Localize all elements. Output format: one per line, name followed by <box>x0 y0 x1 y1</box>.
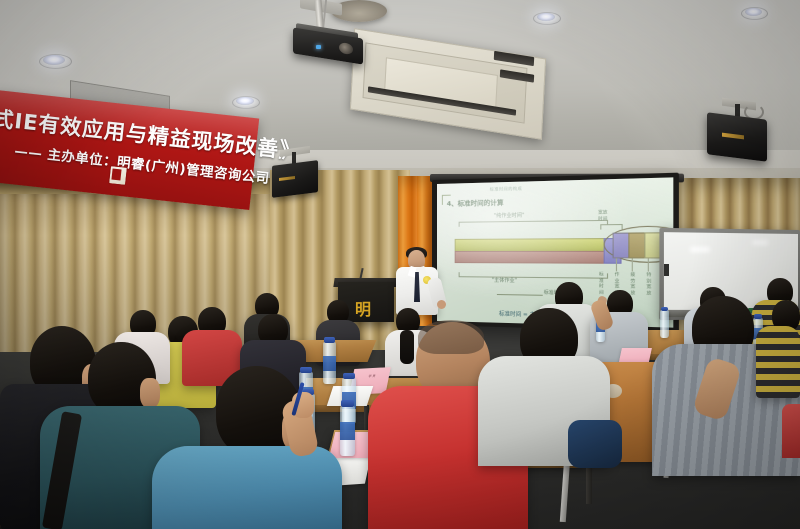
water-bottle[interactable] <box>660 310 669 338</box>
slide-header-text: 标准时间的构成 <box>490 186 522 193</box>
bottle-label <box>323 356 336 371</box>
slide-brace-allowance <box>600 224 622 230</box>
bottle-cap <box>300 367 312 373</box>
slide-brace-bottom <box>459 272 608 279</box>
downlight-icon-2 <box>236 97 254 105</box>
name-card-text: 学 员 <box>360 374 385 378</box>
slide-title: 4、标准时间的计算 <box>447 197 504 208</box>
bottle-cap <box>324 337 335 343</box>
slide-bar-segment-prep <box>455 251 606 264</box>
whiteboard-glare-2 <box>752 240 768 245</box>
attendee-ponytail-hair <box>400 330 414 364</box>
bottle-cap <box>341 400 354 407</box>
whiteboard-glare-1 <box>690 247 710 252</box>
attendee-edge-red <box>782 404 800 458</box>
projector-status-led <box>316 45 321 49</box>
podium-logo: 明 <box>352 300 374 320</box>
attendee-2-face <box>140 378 160 408</box>
attendee-3 <box>152 446 342 529</box>
slide-leader-2 <box>632 258 633 271</box>
whiteboard-clip <box>664 264 669 276</box>
backpack <box>568 420 622 468</box>
sponsor-logo-inner <box>111 169 121 181</box>
bottle-cap <box>343 373 355 379</box>
slide-brace-top <box>459 220 608 227</box>
slide-leader-3 <box>648 258 649 271</box>
attendee-4-hair <box>418 320 484 354</box>
slide-label-top: "纯作业时间" <box>494 212 525 220</box>
slide-leader-1 <box>616 258 617 271</box>
bottle-cap <box>661 307 668 311</box>
downlight-icon-1 <box>43 55 65 65</box>
seminar-room-photo: 式IE有效应用与精益现场改善》 —— 主办单位：明睿(广州)管理咨询公司 标准时… <box>0 0 800 529</box>
downlight-icon-4 <box>745 8 762 16</box>
bottle-cap <box>754 314 762 319</box>
slide-label-bottom: "主体作业" <box>492 277 517 284</box>
slide-label-allowance: 宽放时间 <box>598 209 607 222</box>
downlight-icon-3 <box>537 13 555 21</box>
attendee-7-body <box>756 326 800 398</box>
slide-arrow-line <box>497 294 543 296</box>
presenter-hand <box>437 300 446 309</box>
bottle-label <box>340 422 355 440</box>
